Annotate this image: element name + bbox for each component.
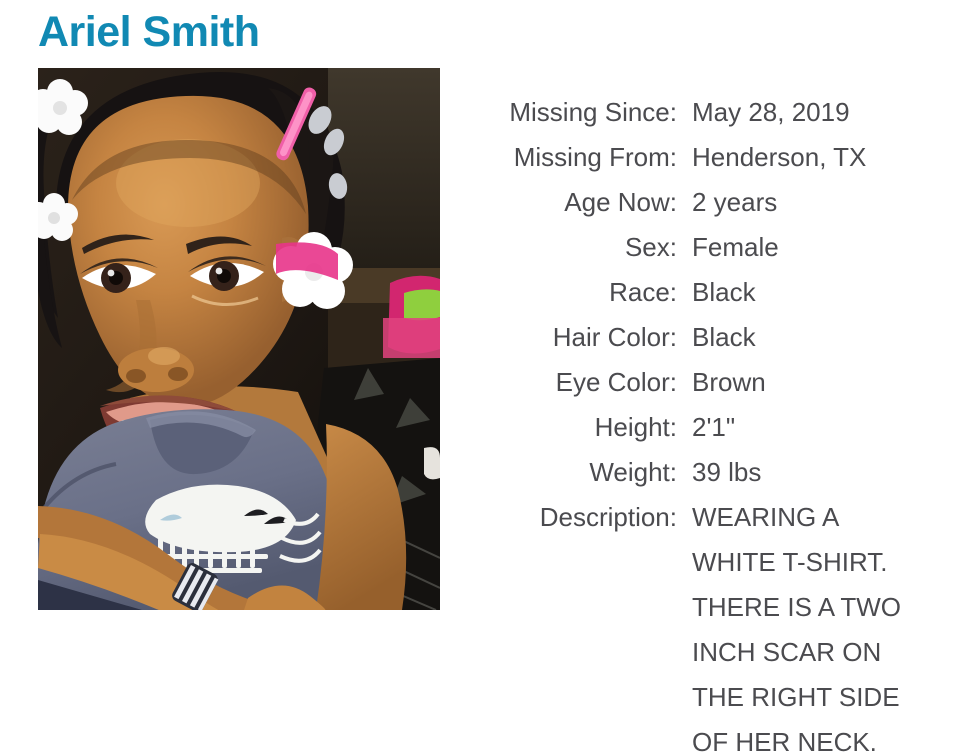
detail-value: Brown <box>692 360 975 405</box>
person-photo-image <box>38 68 440 610</box>
detail-row-missing-since: Missing Since: May 28, 2019 <box>470 90 975 135</box>
detail-label: Weight: <box>470 450 692 495</box>
detail-value: Henderson, TX <box>692 135 975 180</box>
detail-row-sex: Sex: Female <box>470 225 975 270</box>
detail-row-weight: Weight: 39 lbs <box>470 450 975 495</box>
details-list: Missing Since: May 28, 2019 Missing From… <box>470 90 975 755</box>
detail-row-description: Description: WEARING A WHITE T-SHIRT. TH… <box>470 495 975 755</box>
detail-value: 2'1" <box>692 405 975 450</box>
detail-label: Age Now: <box>470 180 692 225</box>
detail-row-race: Race: Black <box>470 270 975 315</box>
description-line: THERE IS A TWO <box>692 585 975 630</box>
description-line: INCH SCAR ON <box>692 630 975 675</box>
description-line: WHITE T-SHIRT. <box>692 540 975 585</box>
description-line: OF HER NECK. <box>692 720 975 755</box>
detail-label: Sex: <box>470 225 692 270</box>
detail-label: Hair Color: <box>470 315 692 360</box>
page-title: Ariel Smith <box>38 4 260 60</box>
detail-row-height: Height: 2'1" <box>470 405 975 450</box>
detail-value: Black <box>692 315 975 360</box>
detail-value: 2 years <box>692 180 975 225</box>
detail-label: Missing From: <box>470 135 692 180</box>
person-photo <box>38 68 440 610</box>
detail-row-missing-from: Missing From: Henderson, TX <box>470 135 975 180</box>
detail-row-age-now: Age Now: 2 years <box>470 180 975 225</box>
detail-value-description: WEARING A WHITE T-SHIRT. THERE IS A TWO … <box>692 495 975 755</box>
detail-value: 39 lbs <box>692 450 975 495</box>
detail-value: May 28, 2019 <box>692 90 975 135</box>
detail-label: Description: <box>470 495 692 540</box>
detail-label: Height: <box>470 405 692 450</box>
detail-row-hair-color: Hair Color: Black <box>470 315 975 360</box>
description-line: THE RIGHT SIDE <box>692 675 975 720</box>
description-line: WEARING A <box>692 495 975 540</box>
detail-value: Female <box>692 225 975 270</box>
detail-label: Race: <box>470 270 692 315</box>
detail-value: Black <box>692 270 975 315</box>
detail-label: Eye Color: <box>470 360 692 405</box>
missing-person-poster: Ariel Smith <box>0 0 975 755</box>
detail-row-eye-color: Eye Color: Brown <box>470 360 975 405</box>
detail-label: Missing Since: <box>470 90 692 135</box>
